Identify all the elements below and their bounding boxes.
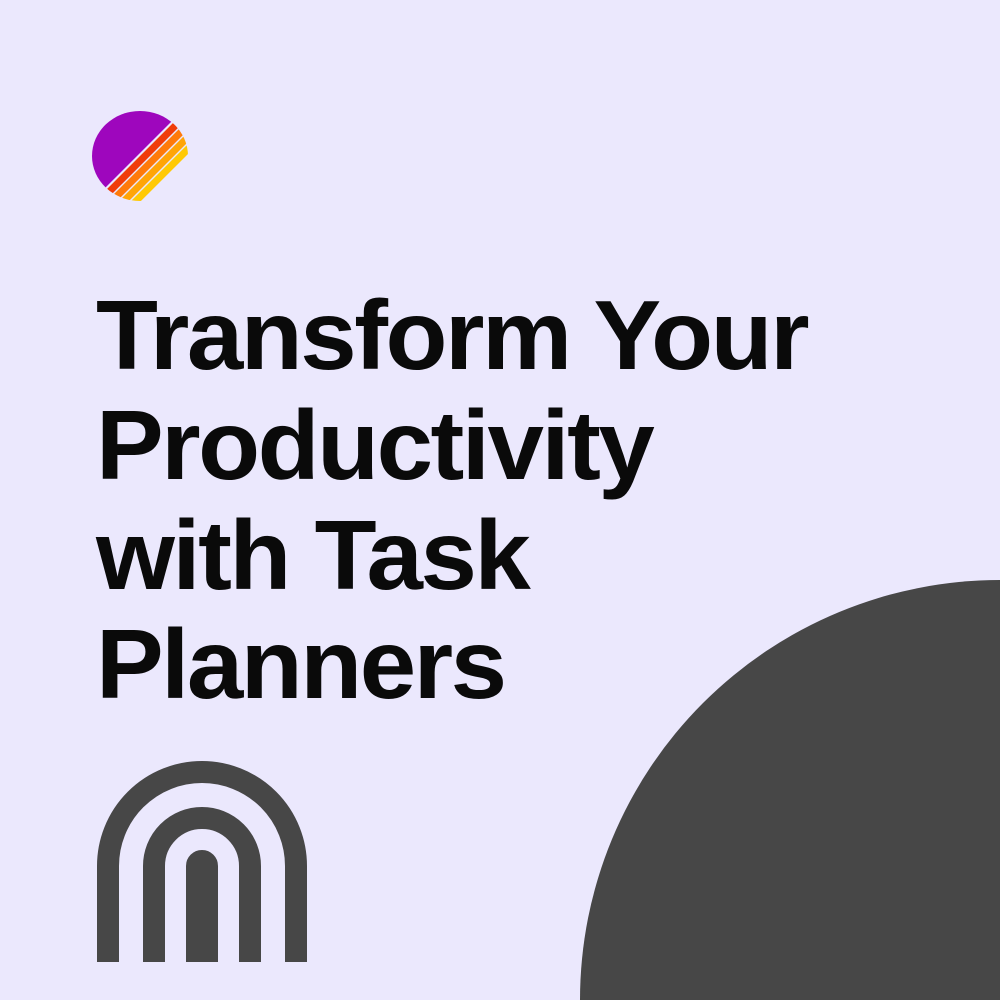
page-title: Transform Your Productivity with Task Pl… xyxy=(96,281,996,720)
brand-logo xyxy=(88,111,198,201)
poster-canvas: Transform Your Productivity with Task Pl… xyxy=(0,0,1000,1000)
nested-arch-icon xyxy=(97,760,307,962)
